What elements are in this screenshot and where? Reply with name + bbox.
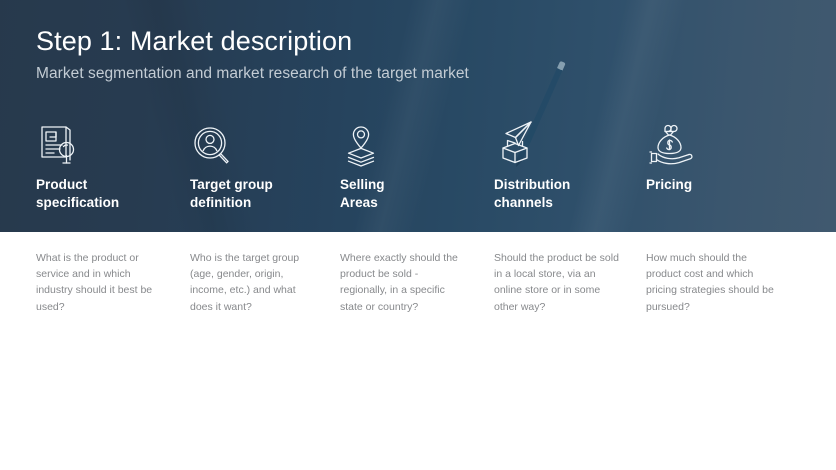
heading-line-2: channels bbox=[494, 195, 553, 210]
paper-plane-box-icon bbox=[494, 120, 548, 164]
person-magnifier-icon bbox=[190, 124, 244, 168]
heading-line-2: definition bbox=[190, 195, 251, 210]
heading-line-1: Distribution bbox=[494, 177, 570, 192]
column-body-text: Should the product be sold in a local st… bbox=[494, 250, 622, 315]
column-body-text: Who is the target group (age, gender, or… bbox=[190, 250, 318, 315]
heading-line-1: Product bbox=[36, 177, 87, 192]
column-heading: Distribution channels bbox=[494, 176, 640, 211]
heading-line-2: specification bbox=[36, 195, 119, 210]
heading-line-2: Areas bbox=[340, 195, 378, 210]
column-heading: Product specification bbox=[36, 176, 182, 211]
column-heading: Selling Areas bbox=[340, 176, 486, 211]
map-pin-layers-icon bbox=[340, 124, 394, 168]
heading-line-1: Target group bbox=[190, 177, 273, 192]
column-body-text: What is the product or service and in wh… bbox=[36, 250, 158, 315]
money-bag-hand-icon bbox=[646, 124, 700, 168]
heading-line-1: Pricing bbox=[646, 177, 692, 192]
document-magnifier-icon bbox=[36, 124, 90, 168]
column-grid: Product specification What is the produc… bbox=[0, 0, 836, 470]
column-body-text: Where exactly should the product be sold… bbox=[340, 250, 468, 315]
column-body-text: How much should the product cost and whi… bbox=[646, 250, 774, 315]
slide-canvas: Step 1: Market description Market segmen… bbox=[0, 0, 836, 470]
heading-line-1: Selling bbox=[340, 177, 385, 192]
column-heading: Target group definition bbox=[190, 176, 336, 211]
column-heading: Pricing bbox=[646, 176, 792, 194]
